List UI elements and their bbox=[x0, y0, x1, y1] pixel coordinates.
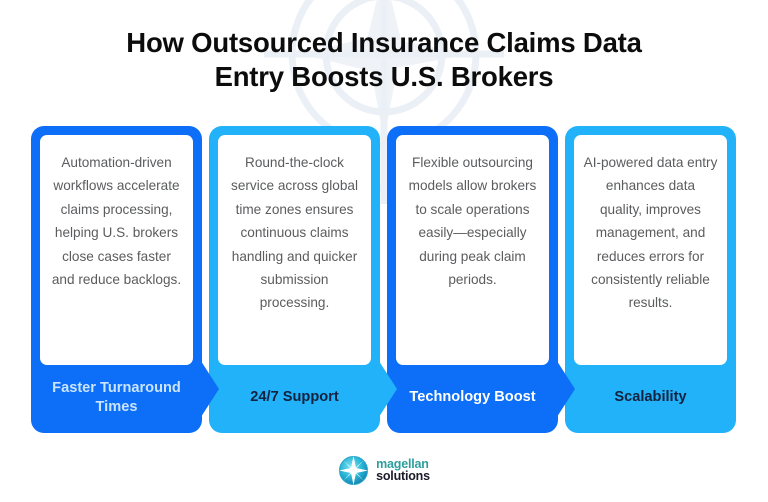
benefit-card-label: 24/7 Support bbox=[209, 369, 380, 427]
brand-logo-wordmark: magellan solutions bbox=[376, 458, 430, 483]
page-title: How Outsourced Insurance Claims Data Ent… bbox=[0, 26, 768, 94]
page-title-line-2: Entry Boosts U.S. Brokers bbox=[0, 60, 768, 94]
benefit-card-label: Technology Boost bbox=[387, 369, 558, 427]
benefit-card-text: Automation-driven workflows accelerate c… bbox=[49, 151, 184, 291]
benefit-card-label: Faster Turnaround Times bbox=[31, 369, 202, 427]
brand-logo: magellan solutions bbox=[0, 448, 768, 492]
benefit-card-text: AI-powered data entry enhances data qual… bbox=[583, 151, 718, 315]
benefit-card-body: Round-the-clock service across global ti… bbox=[218, 135, 371, 365]
benefit-card-text: Flexible outsourcing models allow broker… bbox=[405, 151, 540, 291]
brand-logo-subname: solutions bbox=[376, 470, 430, 483]
benefit-card-body: AI-powered data entry enhances data qual… bbox=[574, 135, 727, 365]
benefit-card-text: Round-the-clock service across global ti… bbox=[227, 151, 362, 315]
benefit-card-24-7-support[interactable]: Round-the-clock service across global ti… bbox=[209, 126, 380, 433]
benefit-card-faster-turnaround-times[interactable]: Automation-driven workflows accelerate c… bbox=[31, 126, 202, 433]
benefit-cards-row: Automation-driven workflows accelerate c… bbox=[31, 126, 737, 433]
page-title-line-1: How Outsourced Insurance Claims Data bbox=[0, 26, 768, 60]
benefit-card-body: Flexible outsourcing models allow broker… bbox=[396, 135, 549, 365]
benefit-card-scalability[interactable]: AI-powered data entry enhances data qual… bbox=[565, 126, 736, 433]
benefit-card-technology-boost[interactable]: Flexible outsourcing models allow broker… bbox=[387, 126, 558, 433]
benefit-card-body: Automation-driven workflows accelerate c… bbox=[40, 135, 193, 365]
compass-star-icon bbox=[338, 455, 369, 486]
benefit-card-label: Scalability bbox=[565, 369, 736, 427]
